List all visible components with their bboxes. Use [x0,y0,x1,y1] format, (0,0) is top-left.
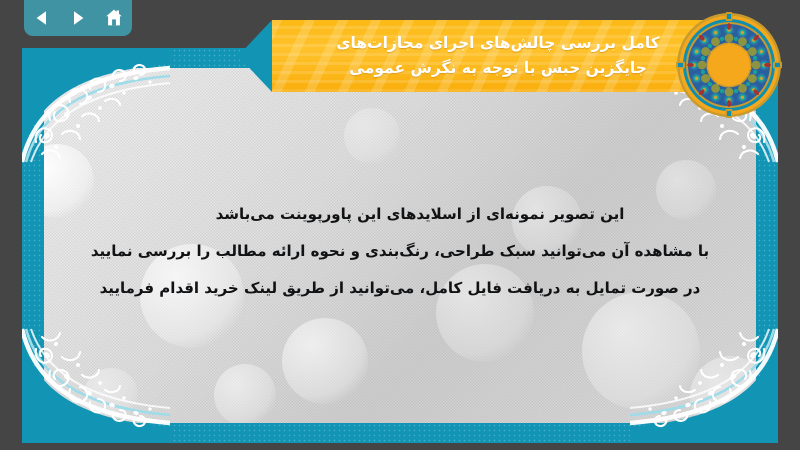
persian-mandala-medallion-icon [676,12,782,118]
body-line-1: این تصویر نمونه‌ای از اسلایدهای این پاور… [70,196,730,233]
previous-slide-button[interactable] [29,5,55,31]
slide-title-banner: کامل بررسی چالش‌های اجرای مجازات‌های جای… [272,20,724,92]
home-icon [104,8,124,28]
title-line-2: جایگزین حبس با توجه به نگرش عمومی [336,56,659,81]
slide-frame: این تصویر نمونه‌ای از اسلایدهای این پاور… [22,48,778,443]
home-button[interactable] [101,5,127,31]
triangle-left-icon [33,9,51,27]
title-line-1: کامل بررسی چالش‌های اجرای مجازات‌های [336,31,659,56]
next-slide-button[interactable] [65,5,91,31]
slide-viewer: این تصویر نمونه‌ای از اسلایدهای این پاور… [0,0,800,450]
slide-content-panel: این تصویر نمونه‌ای از اسلایدهای این پاور… [44,68,756,423]
body-line-3: در صورت تمایل به دریافت فایل کامل، می‌تو… [70,270,730,307]
triangle-right-icon [69,9,87,27]
slide-body-text: این تصویر نمونه‌ای از اسلایدهای این پاور… [44,196,756,306]
body-line-2: با مشاهده آن می‌توانید سبک طراحی، رنگ‌بن… [70,233,730,270]
slide-navigation-bar [24,0,132,36]
slide-title: کامل بررسی چالش‌های اجرای مجازات‌های جای… [322,31,673,81]
